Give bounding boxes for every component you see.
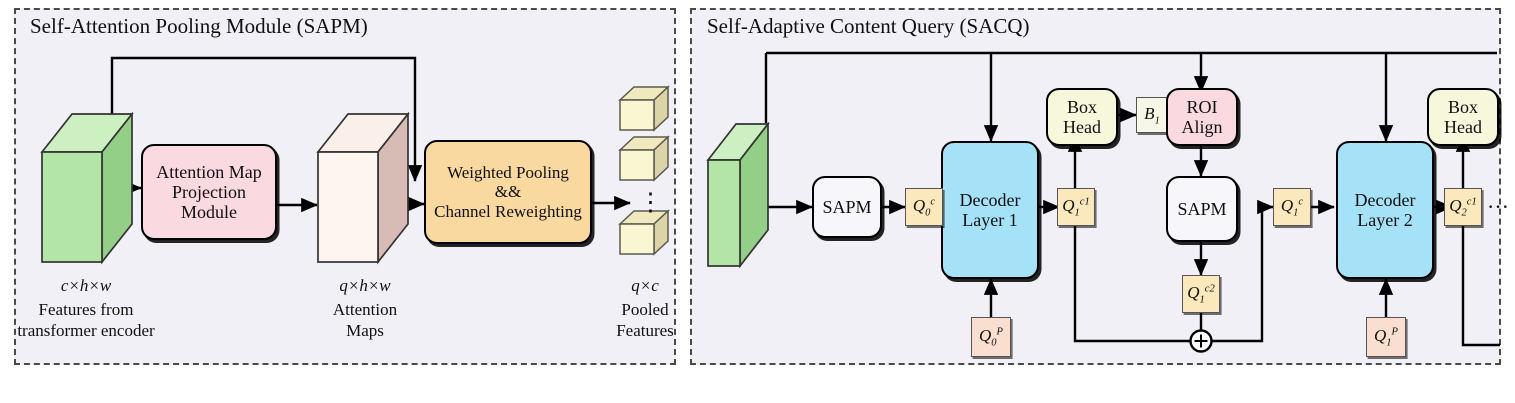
box-b1-label: B1 xyxy=(1144,104,1160,126)
box-head-2-label: BoxHead xyxy=(1444,97,1482,138)
tensor-encoder-features-right xyxy=(706,122,776,272)
panel-sacq-title: Self-Adaptive Content Query (SACQ) xyxy=(707,14,1030,39)
query-q0p[interactable]: Q0P xyxy=(971,317,1011,357)
decoder-layer-1-label: DecoderLayer 1 xyxy=(960,190,1021,231)
tensor-attention-maps xyxy=(316,112,416,272)
sapm-block-2[interactable]: SAPM xyxy=(1166,176,1238,242)
encoder-features-caption: Features fromtransformer encoder xyxy=(11,300,161,341)
horizontal-ellipsis-icon: ··· xyxy=(1487,196,1509,218)
roi-align-label: ROIAlign xyxy=(1181,97,1222,138)
sapm-block-1-label: SAPM xyxy=(822,197,871,217)
decoder-layer-2[interactable]: DecoderLayer 2 xyxy=(1336,141,1434,279)
query-q1p-label: Q1P xyxy=(1374,326,1398,348)
weighted-pooling-label: Weighted Pooling&&Channel Reweighting xyxy=(434,163,582,221)
attention-map-projection-module[interactable]: Attention MapProjectionModule xyxy=(141,144,277,240)
attention-map-projection-module-label: Attention MapProjectionModule xyxy=(156,162,262,223)
query-q0p-label: Q0P xyxy=(979,326,1003,348)
vertical-ellipsis-icon: ⋮ xyxy=(638,190,663,215)
query-q1c-label: Q1c xyxy=(1281,196,1303,218)
box-b1[interactable]: B1 xyxy=(1136,97,1168,133)
pooled-features-caption: PooledFeatures xyxy=(595,300,695,341)
box-head-2[interactable]: BoxHead xyxy=(1427,88,1499,146)
attention-maps-caption: AttentionMaps xyxy=(305,300,425,341)
query-q1p[interactable]: Q1P xyxy=(1366,317,1406,357)
sapm-block-1[interactable]: SAPM xyxy=(812,176,882,238)
tensor-encoder-features-left xyxy=(40,112,140,272)
pooled-feature-cube-1 xyxy=(617,84,673,134)
attention-maps-dims: q×h×w xyxy=(305,276,425,297)
decoder-layer-1[interactable]: DecoderLayer 1 xyxy=(941,141,1039,279)
decoder-layer-2-label: DecoderLayer 2 xyxy=(1355,190,1416,231)
box-head-1-label: BoxHead xyxy=(1063,97,1101,138)
figure-root: Self-Attention Pooling Module (SAPM) Sel… xyxy=(0,0,1515,403)
query-q0c-label: Q0c xyxy=(913,196,935,218)
panel-sapm-title: Self-Attention Pooling Module (SAPM) xyxy=(30,14,368,39)
sapm-block-2-label: SAPM xyxy=(1177,199,1226,219)
pooled-features-dims: q×c xyxy=(595,276,695,297)
query-q1c1-label: Q1c1 xyxy=(1062,196,1090,218)
query-q2c1-label: Q2c1 xyxy=(1449,196,1477,218)
query-q1c2-label: Q1c2 xyxy=(1187,283,1215,305)
query-q1c2[interactable]: Q1c2 xyxy=(1182,275,1220,313)
box-head-1[interactable]: BoxHead xyxy=(1046,88,1118,146)
query-q0c[interactable]: Q0c xyxy=(905,188,943,226)
encoder-features-dims: c×h×w xyxy=(26,276,146,297)
weighted-pooling-channel-reweighting[interactable]: Weighted Pooling&&Channel Reweighting xyxy=(424,140,592,244)
pooled-feature-cube-2 xyxy=(617,134,673,184)
query-q1c[interactable]: Q1c xyxy=(1273,188,1311,226)
query-q1c1[interactable]: Q1c1 xyxy=(1057,188,1095,226)
query-q2c1[interactable]: Q2c1 xyxy=(1444,188,1482,226)
roi-align[interactable]: ROIAlign xyxy=(1166,88,1238,146)
